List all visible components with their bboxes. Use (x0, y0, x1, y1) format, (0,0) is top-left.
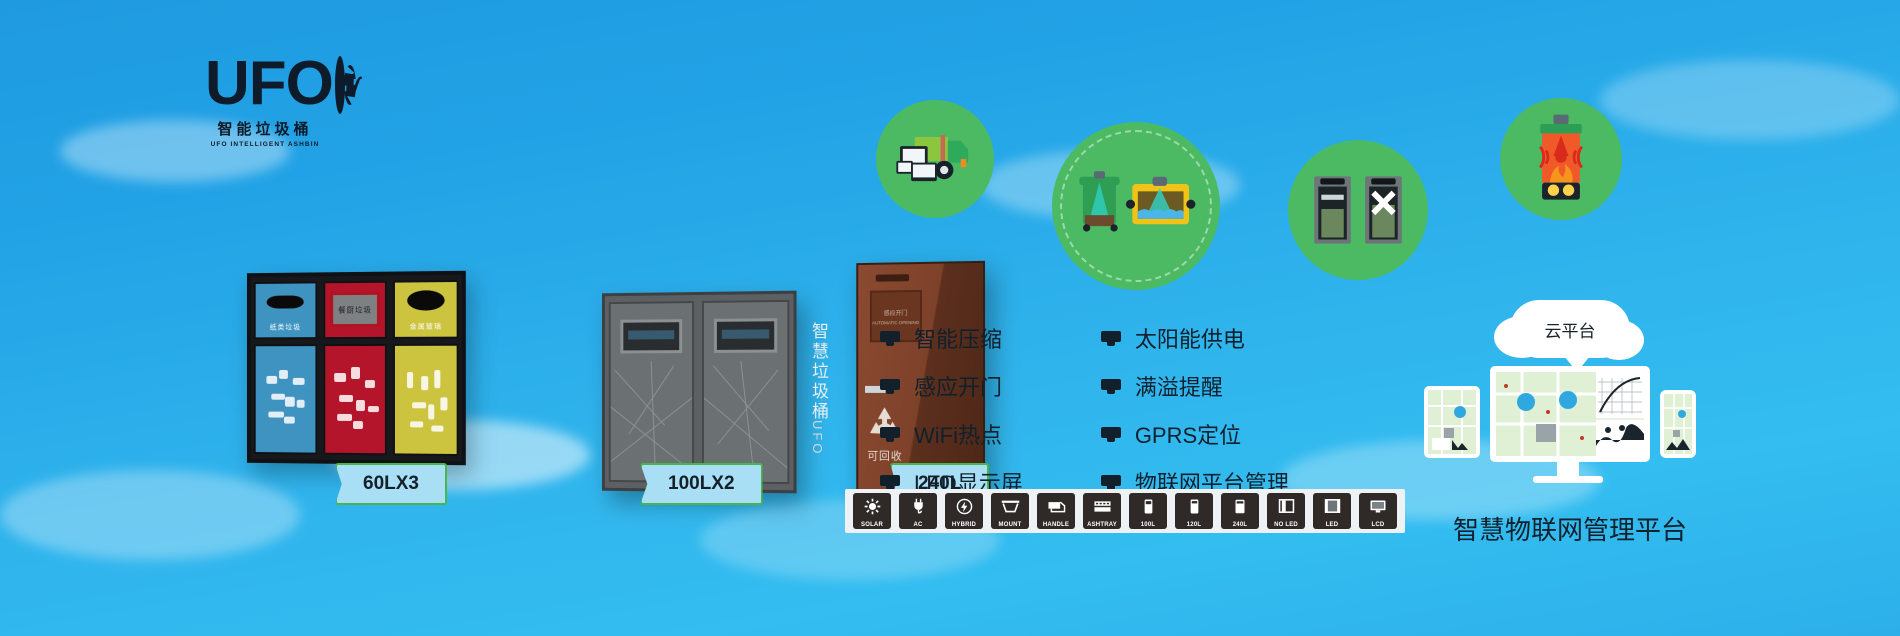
feature-item: 太阳能供电 (1101, 322, 1289, 354)
option-caption: HYBRID (945, 522, 983, 528)
hybrid-power-icon (956, 496, 973, 516)
screen-line-1: 感应开门 (871, 308, 919, 317)
logo-english-name: UFO INTELLIGENT ASHBIN (205, 141, 325, 148)
option-caption: 240L (1221, 522, 1259, 528)
feature-label: WiFi热点 (914, 418, 1002, 450)
option-chip-led[interactable]: LED (1313, 493, 1351, 529)
waste-graphic (256, 346, 315, 453)
iot-platform-illustration: 云平台 (1418, 300, 1718, 490)
feature-circle-fill-level (1052, 122, 1220, 290)
led-icon (1324, 496, 1341, 516)
compartment-label: 纸类垃圾 (256, 322, 315, 332)
option-chip-mount[interactable]: MOUNT (991, 493, 1029, 529)
option-chip-ac[interactable]: AC (899, 493, 937, 529)
compartment-body (393, 344, 458, 456)
fire-alarm-icon (1513, 107, 1609, 211)
bin-compartment-metal-glass: 金属玻璃 (393, 280, 458, 456)
feature-label: 智能压缩 (914, 322, 1002, 354)
monitor-icon (1101, 379, 1121, 394)
feature-item: WiFi热点 (880, 418, 1023, 450)
option-chip-100l[interactable]: 100L (1129, 493, 1167, 529)
monitor-icon (880, 427, 900, 442)
option-chip-handle[interactable]: HANDLE (1037, 493, 1075, 529)
option-chip-240l[interactable]: 240L (1221, 493, 1259, 529)
device-desktop-monitor (1490, 366, 1650, 462)
brand-logo: UFO 智能垃圾桶 UFO INTELLIGENT ASHBIN (205, 52, 325, 148)
bin-unit-right (702, 300, 789, 484)
capacity-banner-100lx2: 100LX2 (640, 463, 763, 505)
waste-graphic (395, 346, 456, 454)
bin-100lx2-side-text: 智慧垃圾桶 (806, 322, 831, 422)
ashtray-icon (1093, 496, 1112, 516)
slot-round-icon (407, 290, 445, 310)
option-caption: SOLAR (853, 522, 891, 528)
option-chip-lcd[interactable]: LCD (1359, 493, 1397, 529)
feature-circle-fleet (876, 100, 994, 218)
map-thumbnail (1428, 390, 1476, 454)
map-thumbnail (1664, 394, 1692, 454)
feature-column-left: 智能压缩 感应开门 WiFi热点 LED显示屏 (880, 322, 1023, 498)
option-chip-120l[interactable]: 120L (1175, 493, 1213, 529)
deposit-window (620, 319, 682, 353)
monitor-icon (1101, 475, 1121, 490)
option-caption: 120L (1175, 522, 1213, 528)
panel-texture (611, 361, 692, 481)
monitor-icon (880, 379, 900, 394)
wall-mount-icon (1001, 496, 1020, 516)
feature-item: 满溢提醒 (1101, 370, 1289, 402)
tablet-map-screen (1428, 390, 1476, 454)
garbage-truck-fleet-icon (889, 113, 981, 205)
compartment-body (323, 344, 387, 455)
compartment-body (254, 344, 317, 455)
waste-compaction-icon (1302, 164, 1414, 256)
logo-chinese-name: 智能垃圾桶 (205, 118, 325, 139)
feature-label: 感应开门 (914, 370, 1002, 402)
compartment-top: 金属玻璃 (393, 280, 458, 339)
option-caption: HANDLE (1037, 522, 1075, 528)
cloud-decor (0, 470, 300, 560)
monitor-icon (880, 475, 900, 490)
option-caption: LCD (1359, 522, 1397, 528)
device-smartphone (1660, 390, 1696, 458)
monitor-icon (1101, 427, 1121, 442)
feature-circle-compaction (1288, 140, 1428, 280)
feature-item: 感应开门 (880, 370, 1023, 402)
handle-icon (1047, 496, 1066, 516)
bin-120l-icon (1189, 496, 1200, 516)
monitor-screen (1496, 372, 1644, 456)
feature-column-right: 太阳能供电 满溢提醒 GPRS定位 物联网平台管理 (1101, 322, 1289, 498)
cloud-icon: 云平台 (1510, 300, 1630, 358)
bin-compartment-paper: 纸类垃圾 (254, 281, 317, 454)
option-chip-hybrid[interactable]: HYBRID (945, 493, 983, 529)
bin-unit-left (609, 301, 694, 483)
option-chip-no-led[interactable]: NO LED (1267, 493, 1305, 529)
plug-icon (910, 496, 927, 516)
fill-level-sensor-icon (1072, 160, 1200, 252)
bin-100lx2-brand-text: UFO (810, 420, 825, 456)
compartment-top: 纸类垃圾 (254, 281, 317, 339)
device-tablet (1424, 386, 1480, 458)
option-chip-ashtray[interactable]: ASHTRAY (1083, 493, 1121, 529)
compartment-label: 餐厨垃圾 (325, 304, 385, 315)
option-caption: 100L (1129, 522, 1167, 528)
feature-item: 智能压缩 (880, 322, 1023, 354)
monitor-icon (880, 331, 900, 346)
option-chip-solar[interactable]: SOLAR (853, 493, 891, 529)
feature-circle-fire-alarm (1500, 98, 1622, 220)
option-caption: MOUNT (991, 522, 1029, 528)
phone-map-screen (1664, 394, 1692, 454)
banner-label: 60LX3 (363, 473, 419, 495)
banner-label: 100LX2 (668, 473, 735, 495)
capacity-banner-60lx3: 60LX3 (335, 463, 447, 505)
dashboard-graphic (1496, 372, 1644, 456)
feature-list: 智能压缩 感应开门 WiFi热点 LED显示屏 太阳能供电 满溢提醒 (880, 322, 1289, 498)
slot-oval-icon (267, 295, 304, 308)
compartment-label: 金属玻璃 (395, 321, 456, 331)
product-bin-100lx2 (602, 291, 797, 494)
feature-label: 满溢提醒 (1135, 370, 1223, 402)
waste-graphic (325, 346, 385, 453)
poster-canvas: UFO 智能垃圾桶 UFO INTELLIGENT ASHBIN 纸类垃圾 (0, 0, 1900, 636)
bin-compartment-kitchen: 餐厨垃圾 (323, 281, 387, 456)
platform-title: 智慧物联网管理平台 (1400, 510, 1740, 547)
cloud-decor (1600, 60, 1900, 140)
option-caption: LED (1313, 522, 1351, 528)
option-caption: ASHTRAY (1083, 522, 1121, 528)
feature-label: GPRS定位 (1135, 418, 1241, 450)
option-caption: AC (899, 522, 937, 528)
sun-icon (864, 496, 881, 516)
deposit-window (714, 318, 777, 353)
option-icon-strip: SOLAR AC HYBRID MOUNT (845, 489, 1405, 533)
option-caption: NO LED (1267, 522, 1305, 528)
logo-wordmark: UFO (205, 55, 333, 114)
compartment-top: 餐厨垃圾 (323, 281, 387, 339)
monitor-base (1533, 476, 1603, 483)
cloud-platform-label: 云平台 (1510, 300, 1630, 358)
logo-mark: UFO (205, 52, 325, 114)
bin-100l-icon (1143, 496, 1154, 516)
lcd-icon (1369, 496, 1387, 516)
product-bin-60lx3: 纸类垃圾 餐厨垃圾 (247, 271, 466, 465)
feature-label: 太阳能供电 (1135, 322, 1245, 354)
monitor-icon (1101, 331, 1121, 346)
ufo-ring-logo-icon (335, 56, 345, 114)
no-led-icon (1278, 496, 1295, 516)
bin-240l-icon (1234, 496, 1246, 516)
sensor-vent-icon (876, 274, 909, 281)
feature-item: GPRS定位 (1101, 418, 1289, 450)
